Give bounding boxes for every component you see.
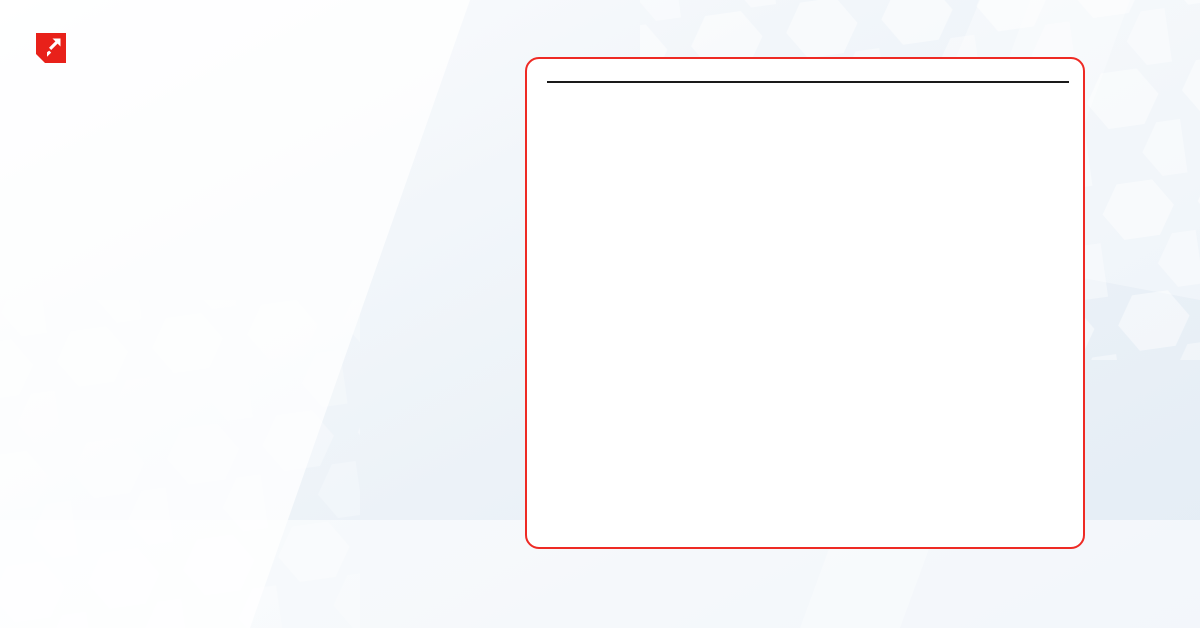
chart-plot-area [547,103,1069,478]
legend-item-stocks [789,92,828,96]
drawdown-line-chart [547,103,1073,478]
chart-title [547,77,1069,83]
legend-line-swatch-bonds [868,92,902,96]
brand-logo [36,33,76,63]
chart-legend [547,92,1069,96]
legend-line-swatch-stocks [789,92,823,96]
doo-prime-logo-icon [36,33,66,63]
legend-line-swatch-gold [710,92,744,96]
halftone-dot-motif [34,558,264,592]
legend-item-bonds [868,92,907,96]
chart-card [525,57,1085,549]
legend-item-gold [710,92,749,96]
